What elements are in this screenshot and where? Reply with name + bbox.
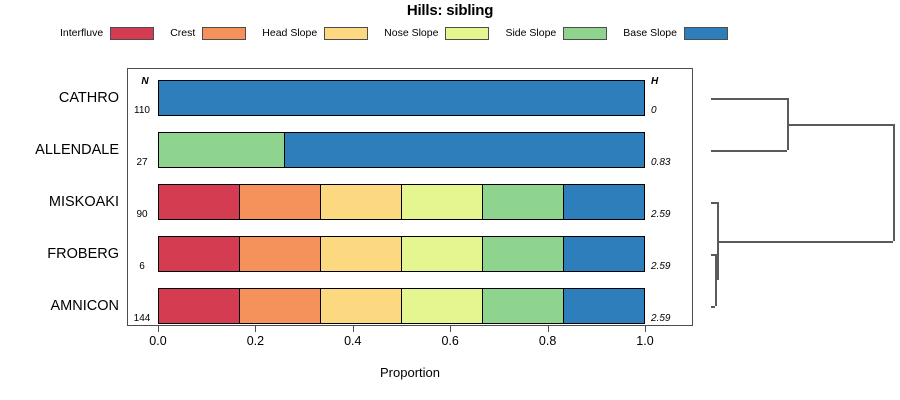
legend-label: Nose Slope (384, 27, 438, 39)
legend-swatch-icon (110, 27, 154, 40)
legend-entry[interactable]: Interfluve (60, 27, 154, 40)
legend-swatch-icon (684, 27, 728, 40)
dendrogram-link (711, 98, 787, 100)
stacked-bar[interactable] (158, 288, 645, 324)
dendrogram-link (893, 124, 895, 241)
dendrogram-link (717, 241, 893, 243)
axis-tick (450, 326, 451, 332)
row-n-value: 110 (129, 105, 155, 116)
row-h-value: 2.59 (651, 209, 685, 220)
legend-swatch-icon (202, 27, 246, 40)
row-label-allendale: ALLENDALE (0, 124, 119, 176)
bar-segment[interactable] (402, 185, 483, 219)
row-n-value: 27 (129, 157, 155, 168)
bar-segment[interactable] (285, 133, 644, 167)
stacked-bar[interactable] (158, 80, 645, 116)
row-h-value: 2.59 (651, 261, 685, 272)
chart-root: Hills: sibling InterfluveCrestHead Slope… (0, 0, 900, 400)
legend-swatch-icon (563, 27, 607, 40)
axis-tick-label: 0.0 (138, 334, 178, 348)
page-title: Hills: sibling (0, 2, 900, 19)
x-axis-title: Proportion (127, 365, 693, 380)
axis-tick-label: 1.0 (625, 334, 665, 348)
axis-tick-label: 0.6 (430, 334, 470, 348)
dendrogram-link (787, 124, 893, 126)
bar-segment[interactable] (564, 185, 644, 219)
legend-label: Crest (170, 27, 195, 39)
axis-tick (548, 326, 549, 332)
axis-tick (158, 326, 159, 332)
legend-entry[interactable]: Head Slope (262, 27, 368, 40)
row-n-value: 144 (129, 313, 155, 324)
stacked-bar[interactable] (158, 184, 645, 220)
legend-swatch-icon (445, 27, 489, 40)
row-n-value: 6 (129, 261, 155, 272)
bar-segment[interactable] (240, 237, 321, 271)
legend-label: Head Slope (262, 27, 317, 39)
bar-segment[interactable] (240, 289, 321, 323)
dendrogram (695, 60, 900, 330)
axis-tick (255, 326, 256, 332)
row-h-value: 2.59 (651, 313, 685, 324)
bar-segment[interactable] (483, 289, 564, 323)
bar-segment[interactable] (564, 237, 644, 271)
row-label-froberg: FROBERG (0, 228, 119, 280)
legend-entry[interactable]: Crest (170, 27, 246, 40)
dendrogram-link (711, 150, 787, 152)
bar-segment[interactable] (240, 185, 321, 219)
legend-entry[interactable]: Nose Slope (384, 27, 489, 40)
bar-segment[interactable] (483, 185, 564, 219)
bar-segment[interactable] (321, 289, 402, 323)
dendrogram-link (715, 280, 717, 282)
row-h-value: 0 (651, 105, 685, 116)
row-n-value: 90 (129, 209, 155, 220)
bar-segment[interactable] (321, 185, 402, 219)
bar-segment[interactable] (159, 81, 644, 115)
dendrogram-link (711, 306, 715, 308)
row-label-cathro: CATHRO (0, 72, 119, 124)
legend-entry[interactable]: Side Slope (505, 27, 607, 40)
axis-tick-label: 0.4 (333, 334, 373, 348)
legend-label: Interfluve (60, 27, 103, 39)
bar-segment[interactable] (483, 237, 564, 271)
legend-swatch-icon (324, 27, 368, 40)
axis-tick-label: 0.8 (528, 334, 568, 348)
bar-segment[interactable] (159, 185, 240, 219)
bar-segment[interactable] (402, 289, 483, 323)
bar-segment[interactable] (159, 133, 285, 167)
row-h-value: 0.83 (651, 157, 685, 168)
stacked-bar[interactable] (158, 236, 645, 272)
legend-label: Side Slope (505, 27, 556, 39)
axis-tick-label: 0.2 (235, 334, 275, 348)
legend-entry[interactable]: Base Slope (623, 27, 728, 40)
legend: InterfluveCrestHead SlopeNose SlopeSide … (60, 25, 850, 41)
legend-label: Base Slope (623, 27, 677, 39)
stacked-bar[interactable] (158, 132, 645, 168)
bar-segment[interactable] (321, 237, 402, 271)
row-label-amnicon: AMNICON (0, 280, 119, 332)
bar-segment[interactable] (402, 237, 483, 271)
bar-segment[interactable] (159, 289, 240, 323)
axis-tick (353, 326, 354, 332)
bar-segment[interactable] (564, 289, 644, 323)
row-label-miskoaki: MISKOAKI (0, 176, 119, 228)
axis-tick (645, 326, 646, 332)
bar-segment[interactable] (159, 237, 240, 271)
